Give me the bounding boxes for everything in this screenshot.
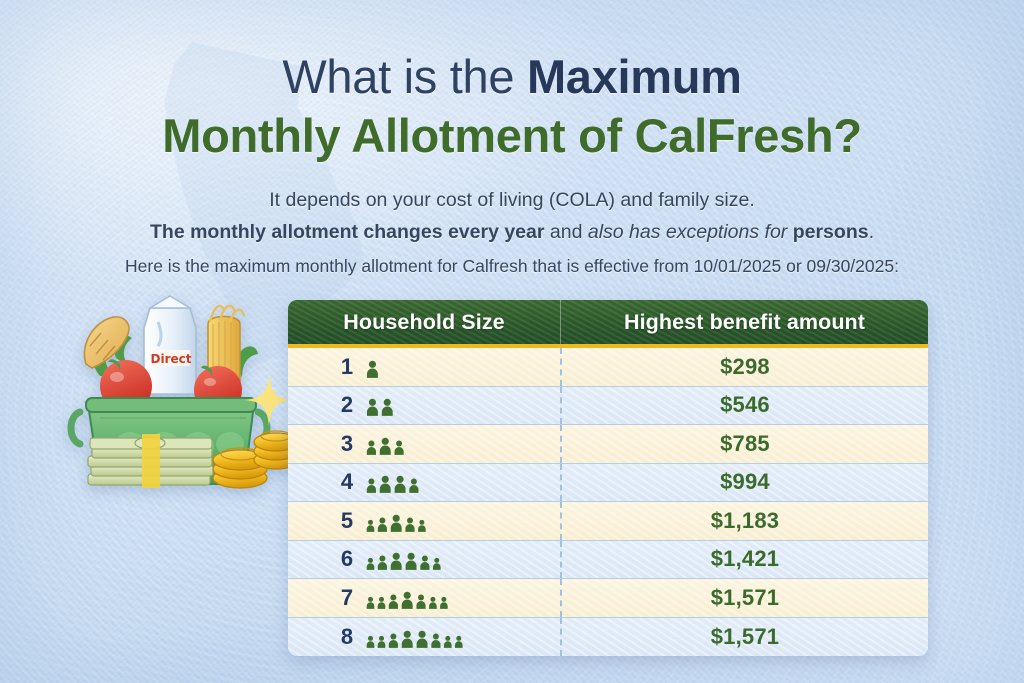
- subtitle-2-regular-a: and: [544, 221, 587, 243]
- cell-household-size: 6: [288, 541, 560, 579]
- column-header-highest-benefit-amount: Highest benefit amount: [560, 300, 928, 344]
- table-row: 7$1,571: [288, 579, 928, 618]
- household-size-value: 2: [340, 392, 354, 418]
- cell-benefit-amount: $298: [560, 348, 928, 386]
- table-row: 4$994: [288, 464, 928, 503]
- subtitle-2-regular-b: .: [869, 221, 874, 243]
- title-bold-part: Maximum: [527, 50, 742, 103]
- cell-household-size: 8: [288, 618, 560, 657]
- household-size-value: 8: [340, 624, 354, 650]
- people-group-icon: [366, 546, 441, 572]
- people-group-icon: [366, 469, 419, 495]
- household-size-value: 1: [340, 354, 354, 380]
- cell-household-size: 4: [288, 464, 560, 502]
- cell-benefit-amount: $785: [560, 425, 928, 463]
- table-row: 5$1,183: [288, 502, 928, 541]
- people-group-icon: [366, 431, 405, 457]
- household-size-value: 6: [340, 546, 354, 572]
- infographic-poster: What is the Maximum Monthly Allotment of…: [0, 0, 1024, 683]
- people-group-icon: [366, 354, 379, 380]
- people-group-icon: [366, 392, 394, 418]
- table-row: 3$785: [288, 425, 928, 464]
- household-size-value: 7: [340, 585, 354, 611]
- svg-text:Direct: Direct: [151, 352, 192, 366]
- subtitle-block: It depends on your cost of living (COLA)…: [0, 186, 1024, 280]
- household-size-value: 4: [340, 469, 354, 495]
- subtitle-line-1: It depends on your cost of living (COLA)…: [0, 186, 1024, 216]
- subtitle-line-2: The monthly allotment changes every year…: [0, 218, 1024, 248]
- people-group-icon: [366, 508, 426, 534]
- cell-benefit-amount: $1,571: [560, 579, 928, 617]
- cell-benefit-amount: $546: [560, 387, 928, 425]
- table-row: 1$298: [288, 348, 928, 387]
- household-size-value: 5: [340, 508, 354, 534]
- table-body: 1$2982$5463$7854$9945$1,1836$1,4217$1,57…: [288, 348, 928, 656]
- table-row: 8$1,571: [288, 618, 928, 657]
- cell-household-size: 2: [288, 387, 560, 425]
- people-group-icon: [366, 585, 448, 611]
- subtitle-2-italic: also has exceptions for: [588, 221, 787, 243]
- subtitle-2-bold-a: The monthly allotment changes every year: [150, 221, 544, 243]
- cell-benefit-amount: $1,571: [560, 618, 928, 657]
- table-row: 6$1,421: [288, 541, 928, 580]
- cell-benefit-amount: $1,183: [560, 502, 928, 540]
- cell-household-size: 7: [288, 579, 560, 617]
- subtitle-line-3: Here is the maximum monthly allotment fo…: [0, 253, 1024, 280]
- page-title-line-1: What is the Maximum: [0, 52, 1024, 102]
- table-header-row: Household Size Highest benefit amount: [288, 300, 928, 348]
- poster-headings: What is the Maximum Monthly Allotment of…: [0, 0, 1024, 279]
- cell-benefit-amount: $1,421: [560, 541, 928, 579]
- subtitle-2-bold-b: persons: [787, 221, 868, 243]
- cell-household-size: 1: [288, 348, 560, 386]
- table-row: 2$546: [288, 387, 928, 426]
- household-size-value: 3: [340, 431, 354, 457]
- grocery-basket-illustration: Direct: [58, 288, 298, 523]
- cell-household-size: 5: [288, 502, 560, 540]
- column-header-household-size: Household Size: [288, 300, 560, 344]
- page-title-line-2: Monthly Allotment of CalFresh?: [0, 111, 1024, 161]
- cell-benefit-amount: $994: [560, 464, 928, 502]
- cell-household-size: 3: [288, 425, 560, 463]
- benefit-amount-table: Household Size Highest benefit amount 1$…: [288, 300, 928, 656]
- title-regular-part: What is the: [282, 50, 527, 103]
- people-group-icon: [366, 624, 463, 650]
